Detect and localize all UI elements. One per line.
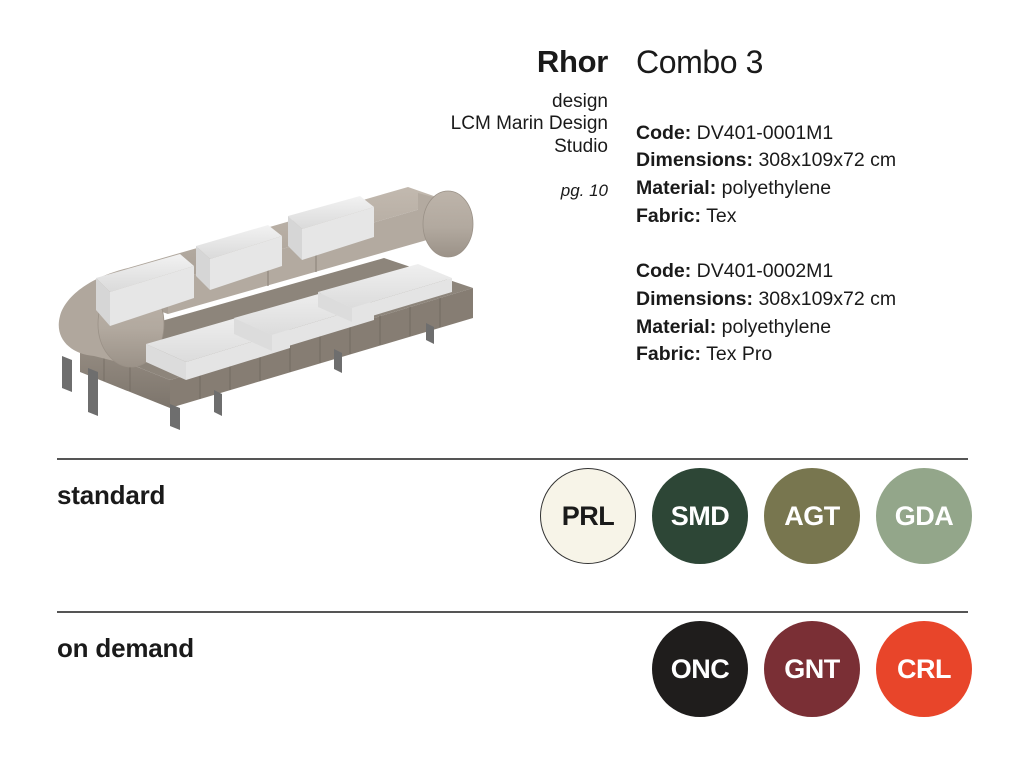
page-title: Combo 3 xyxy=(636,46,1016,80)
spec-material-label: Material: xyxy=(636,316,716,338)
product-header-section: Rhor design LCM Marin Design Studio pg. … xyxy=(0,0,1024,440)
design-label: design xyxy=(330,91,608,114)
variant-block-1: Code: DV401-0001M1 Dimensions: 308x109x7… xyxy=(636,120,1016,231)
color-swatch-label: CRL xyxy=(897,654,951,685)
color-section-on-demand: on demand ONC GNT CRL xyxy=(0,615,1024,735)
spec-fabric: Fabric: Tex xyxy=(636,203,1016,231)
color-swatch-prl[interactable]: PRL xyxy=(540,468,636,564)
catalog-page: Rhor design LCM Marin Design Studio pg. … xyxy=(0,0,1024,768)
color-swatch-label: GNT xyxy=(784,654,840,685)
spec-fabric-label: Fabric: xyxy=(636,205,701,227)
color-swatch-gda[interactable]: GDA xyxy=(876,468,972,564)
spec-code-value: DV401-0001M1 xyxy=(697,122,834,144)
designer-credit: design LCM Marin Design Studio xyxy=(330,91,608,159)
brand-column: Rhor design LCM Marin Design Studio pg. … xyxy=(330,46,608,201)
spec-column: Combo 3 Code: DV401-0001M1 Dimensions: 3… xyxy=(636,46,1016,397)
section-label-on-demand: on demand xyxy=(57,633,194,664)
spec-material-label: Material: xyxy=(636,177,716,199)
section-label-standard: standard xyxy=(57,480,165,511)
color-swatch-onc[interactable]: ONC xyxy=(652,621,748,717)
color-swatch-smd[interactable]: SMD xyxy=(652,468,748,564)
spec-fabric-value: Tex xyxy=(706,205,736,227)
color-swatch-label: PRL xyxy=(562,501,615,532)
spec-code-label: Code: xyxy=(636,260,691,282)
swatch-row-standard: PRL SMD AGT GDA xyxy=(540,468,972,564)
variant-block-2: Code: DV401-0002M1 Dimensions: 308x109x7… xyxy=(636,258,1016,369)
designer-line-2: Studio xyxy=(330,136,608,159)
spec-fabric-value: Tex Pro xyxy=(706,343,772,365)
color-swatch-label: ONC xyxy=(671,654,730,685)
spec-dimensions: Dimensions: 308x109x72 cm xyxy=(636,286,1016,314)
spec-dimensions-value: 308x109x72 cm xyxy=(758,149,896,171)
color-swatch-label: GDA xyxy=(895,501,954,532)
spec-code-label: Code: xyxy=(636,122,691,144)
page-number: pg. 10 xyxy=(330,181,608,201)
color-swatch-label: SMD xyxy=(671,501,730,532)
color-swatch-gnt[interactable]: GNT xyxy=(764,621,860,717)
spec-material: Material: polyethylene xyxy=(636,175,1016,203)
spec-fabric-label: Fabric: xyxy=(636,343,701,365)
product-render xyxy=(18,168,488,430)
color-swatch-crl[interactable]: CRL xyxy=(876,621,972,717)
divider-on-demand xyxy=(57,611,968,613)
swatch-row-on-demand: ONC GNT CRL xyxy=(652,621,972,717)
spec-code: Code: DV401-0002M1 xyxy=(636,258,1016,286)
spec-material-value: polyethylene xyxy=(722,316,832,338)
designer-line-1: LCM Marin Design xyxy=(330,113,608,136)
color-swatch-label: AGT xyxy=(784,501,840,532)
brand-name: Rhor xyxy=(330,46,608,79)
color-section-standard: standard PRL SMD AGT GDA xyxy=(0,462,1024,582)
spec-code-value: DV401-0002M1 xyxy=(697,260,834,282)
spec-material: Material: polyethylene xyxy=(636,314,1016,342)
color-swatch-agt[interactable]: AGT xyxy=(764,468,860,564)
spec-dimensions: Dimensions: 308x109x72 cm xyxy=(636,147,1016,175)
spec-dimensions-value: 308x109x72 cm xyxy=(758,288,896,310)
spec-dimensions-label: Dimensions: xyxy=(636,149,753,171)
spec-material-value: polyethylene xyxy=(722,177,832,199)
spec-fabric: Fabric: Tex Pro xyxy=(636,341,1016,369)
spec-dimensions-label: Dimensions: xyxy=(636,288,753,310)
spec-code: Code: DV401-0001M1 xyxy=(636,120,1016,148)
divider-standard xyxy=(57,458,968,460)
sofa-illustration xyxy=(18,168,488,430)
